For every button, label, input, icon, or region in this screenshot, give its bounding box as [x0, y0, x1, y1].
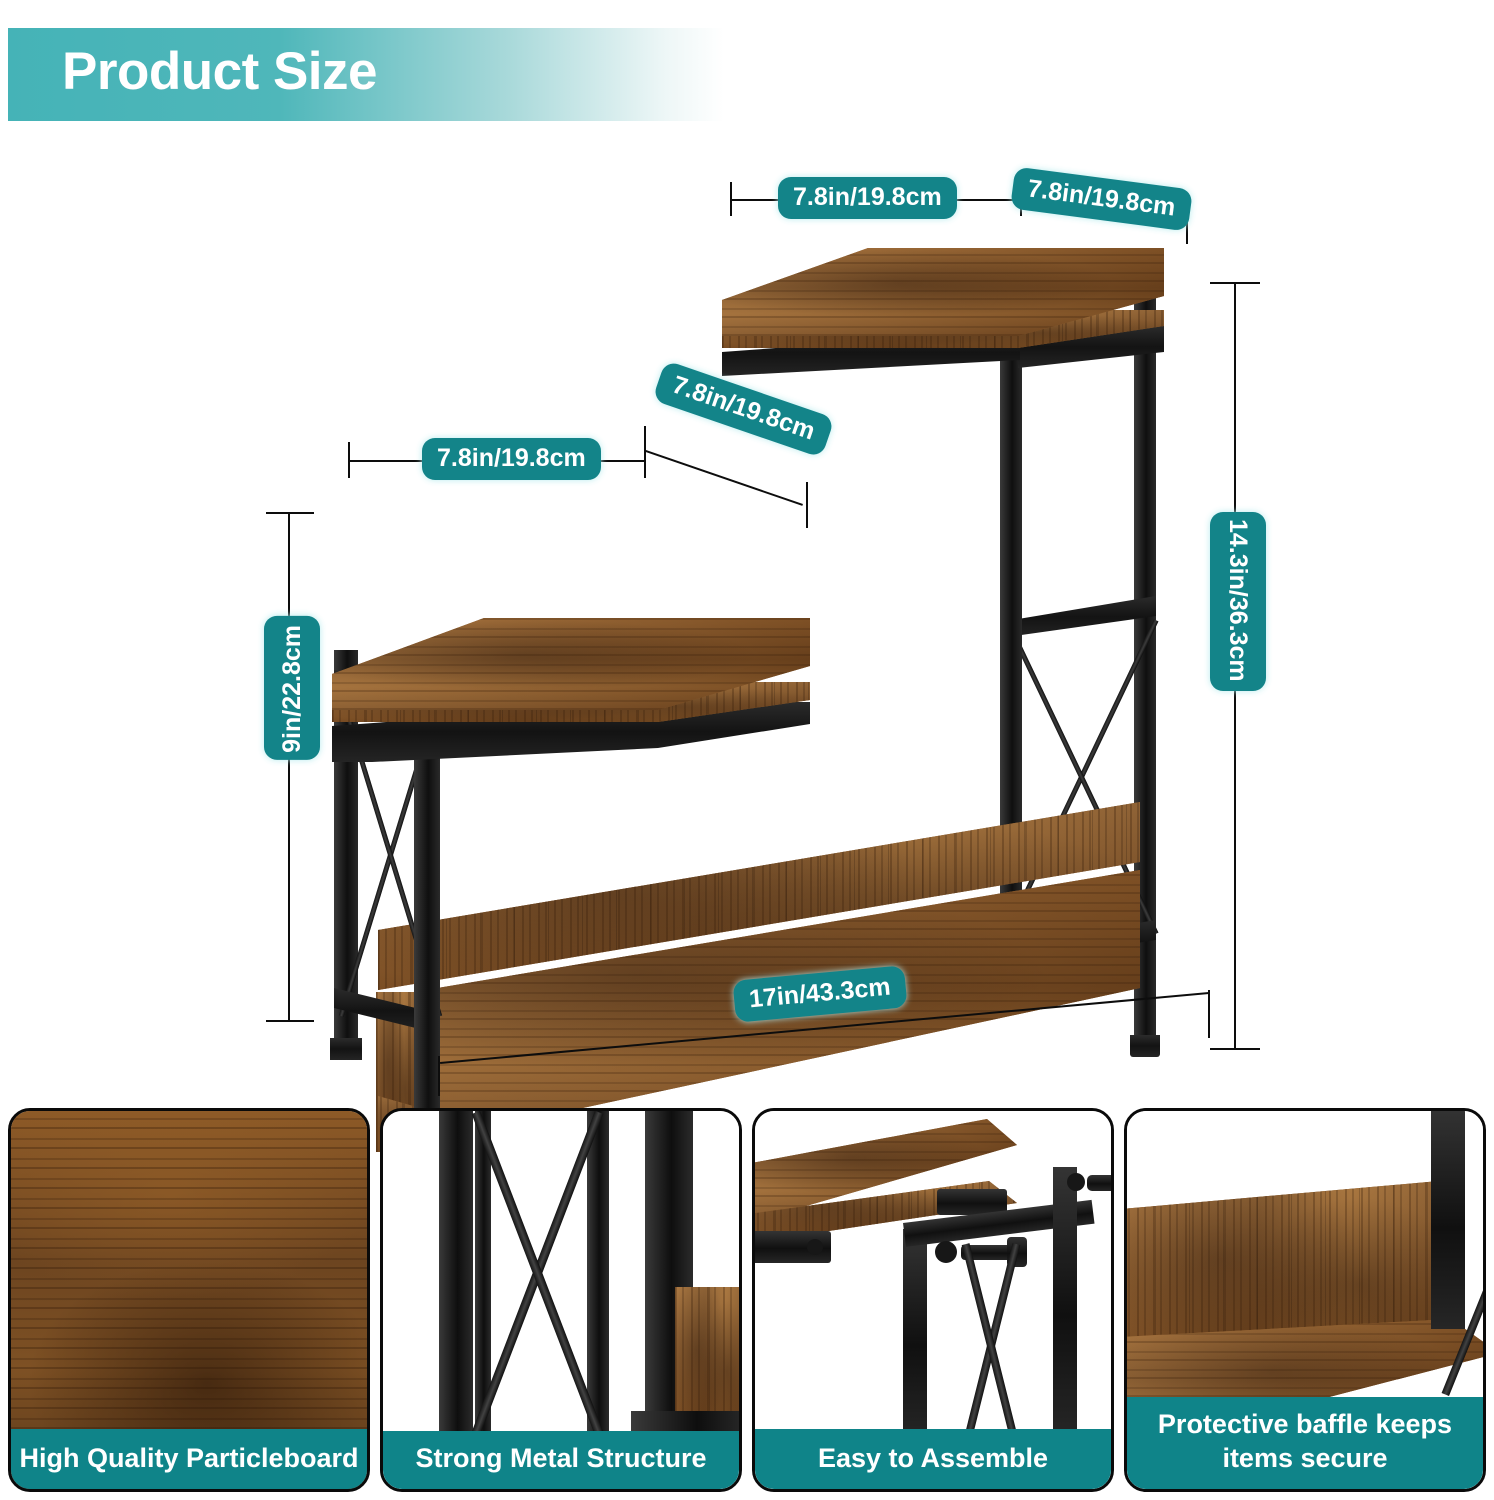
feature-card-caption: High Quality Particleboard — [11, 1429, 367, 1489]
feature-card-easy-assemble[interactable]: Easy to Assemble — [752, 1108, 1114, 1492]
feature-card-caption: Easy to Assemble — [755, 1429, 1111, 1489]
dim-label-total-height: 14.3in/36.3cm — [1210, 512, 1266, 691]
front-frame-rear-foot — [330, 1038, 362, 1060]
dim-tick-lower-width-left — [348, 442, 350, 478]
dim-tick-total-width-left — [438, 1056, 440, 1096]
dim-label-upper-width: 7.8in/19.8cm — [778, 177, 957, 219]
dim-tick-shelf-height-top — [266, 512, 314, 514]
dim-tick-total-width-right — [1208, 990, 1210, 1038]
dim-tick-total-height-bottom — [1210, 1048, 1260, 1050]
back-frame-rear-foot — [1130, 1035, 1160, 1057]
dim-label-lower-width: 7.8in/19.8cm — [422, 438, 601, 480]
front-frame-front-leg — [414, 692, 440, 1162]
feature-card-caption: Strong Metal Structure — [383, 1431, 739, 1489]
dim-line-lower-depth — [645, 450, 803, 506]
feature-card-protective-baffle[interactable]: Protective baffle keeps items secure — [1124, 1108, 1486, 1492]
feature-card-metal-structure[interactable]: Strong Metal Structure — [380, 1108, 742, 1492]
feature-card-particleboard[interactable]: High Quality Particleboard — [8, 1108, 370, 1492]
product-dimension-diagram: 7.8in/19.8cm 7.8in/19.8cm 7.8in/19.8cm 7… — [0, 130, 1494, 1105]
feature-card-row: High Quality Particleboard Strong Metal … — [8, 1108, 1486, 1492]
dim-tick-total-height-top — [1210, 282, 1260, 284]
dim-tick-lower-depth-right — [806, 482, 808, 528]
feature-card-caption: Protective baffle keeps items secure — [1127, 1397, 1483, 1489]
dim-tick-shelf-height-bottom — [266, 1020, 314, 1022]
dim-label-shelf-height: 9in/22.8cm — [264, 616, 320, 760]
dim-tick-upper-width-left — [730, 182, 732, 216]
dim-line-shelf-height — [288, 512, 290, 1022]
page-title: Product Size — [62, 40, 377, 104]
dim-label-upper-depth: 7.8in/19.8cm — [1010, 167, 1193, 232]
